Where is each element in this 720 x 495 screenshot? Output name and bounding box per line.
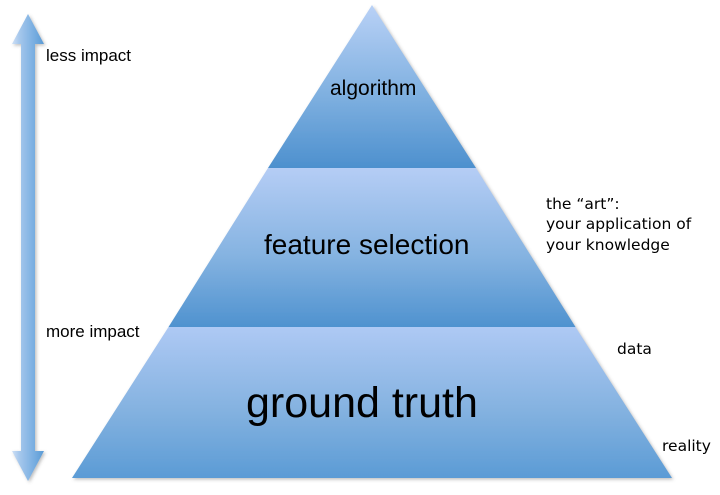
pyramid-tier-label-algorithm: algorithm [330,77,416,102]
arrow-shape [12,14,44,481]
annotation-reality: reality [662,437,711,455]
pyramid-tier-label-ground-truth: ground truth [246,378,478,429]
pyramid-tier-label-feature-selection: feature selection [264,228,469,261]
diagram-canvas: less impact more impact algorithm featur… [0,0,720,495]
arrow-label-more-impact: more impact [46,322,140,342]
annotation-the-art: the “art”: your application of your know… [546,194,691,255]
impact-arrow [12,14,44,481]
annotation-data: data [617,340,652,358]
arrow-label-less-impact: less impact [46,46,131,66]
